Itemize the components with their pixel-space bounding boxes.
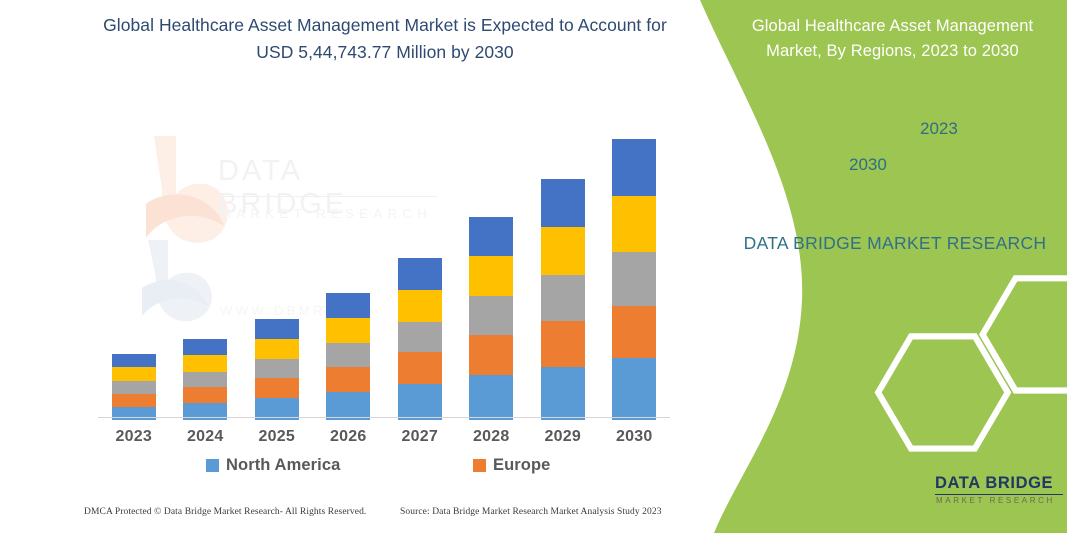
bar-2025[interactable] [255,319,299,420]
bar-segment-north-america[interactable] [541,367,585,420]
bar-2026[interactable] [326,293,370,420]
legend-swatch-icon [206,459,219,472]
bar-segment-middle-east-africa[interactable] [255,319,299,339]
legend-swatch-icon [473,459,486,472]
bar-segment-asia-pacific[interactable] [469,296,513,335]
bar-segment-north-america[interactable] [612,358,656,420]
bar-segment-europe[interactable] [112,394,156,407]
bar-segment-middle-east-africa[interactable] [469,217,513,256]
x-axis-label-2024: 2024 [170,428,242,446]
x-axis-label-2029: 2029 [527,428,599,446]
x-axis-label-2026: 2026 [313,428,385,446]
bar-2029[interactable] [541,179,585,420]
data-bridge-logo: DATA BRIDGE MARKET RESEARCH [875,467,1065,523]
bar-segment-south-america[interactable] [541,227,585,275]
bar-segment-north-america[interactable] [469,375,513,420]
x-axis-labels: 20232024202520262027202820292030 [98,428,670,452]
bar-segment-asia-pacific[interactable] [326,343,370,367]
bar-segment-south-america[interactable] [255,339,299,359]
right-green-panel: Global Healthcare Asset Management Marke… [680,0,1067,533]
bar-segment-europe[interactable] [469,335,513,375]
bar-segment-middle-east-africa[interactable] [183,339,227,355]
bar-segment-asia-pacific[interactable] [112,381,156,394]
bar-segment-asia-pacific[interactable] [541,275,585,321]
logo-divider [935,494,1063,495]
logo-subtitle: MARKET RESEARCH [936,496,1055,505]
bar-segment-south-america[interactable] [398,290,442,322]
page-title: Global Healthcare Asset Management Marke… [100,12,670,66]
legend-item-europe[interactable]: Europe [473,456,550,475]
hex-label-2030: 2030 [849,155,887,175]
bar-segment-middle-east-africa[interactable] [612,139,656,196]
x-axis-label-2030: 2030 [599,428,671,446]
bar-segment-middle-east-africa[interactable] [541,179,585,227]
stacked-bar-chart [98,120,670,420]
bar-segment-europe[interactable] [541,321,585,367]
bar-segment-south-america[interactable] [469,256,513,296]
chart-legend: North AmericaEurope [98,456,670,480]
bar-segment-south-america[interactable] [326,318,370,343]
panel-title: Global Healthcare Asset Management Marke… [725,14,1060,64]
bar-segment-europe[interactable] [326,367,370,392]
bar-segment-south-america[interactable] [612,196,656,252]
x-axis-label-2028: 2028 [456,428,528,446]
bar-segment-asia-pacific[interactable] [398,322,442,352]
bar-segment-europe[interactable] [183,387,227,403]
bar-2027[interactable] [398,258,442,420]
bar-segment-middle-east-africa[interactable] [112,354,156,367]
legend-item-north-america[interactable]: North America [206,456,340,475]
bar-2028[interactable] [469,217,513,420]
bar-segment-europe[interactable] [612,306,656,358]
bar-segment-north-america[interactable] [398,384,442,420]
bar-2030[interactable] [612,139,656,420]
panel-brand-text: DATA BRIDGE MARKET RESEARCH [740,228,1050,258]
infographic-root: Global Healthcare Asset Management Marke… [0,0,1067,533]
footer-copyright: DMCA Protected © Data Bridge Market Rese… [84,507,366,517]
logo-wordmark: DATA BRIDGE [935,474,1053,493]
bar-segment-europe[interactable] [398,352,442,384]
bar-segment-middle-east-africa[interactable] [326,293,370,318]
bar-segment-middle-east-africa[interactable] [398,258,442,290]
bar-2023[interactable] [112,354,156,420]
bar-2024[interactable] [183,339,227,420]
bar-segment-asia-pacific[interactable] [612,252,656,306]
x-axis-line [98,417,670,418]
bar-segment-south-america[interactable] [112,367,156,381]
footer-source: Source: Data Bridge Market Research Mark… [400,507,662,517]
hex-label-2023: 2023 [920,119,958,139]
legend-label: Europe [493,456,550,475]
bar-segment-asia-pacific[interactable] [183,372,227,387]
bar-segment-north-america[interactable] [326,392,370,420]
bar-segment-europe[interactable] [255,378,299,398]
bar-segment-south-america[interactable] [183,355,227,372]
bar-segment-asia-pacific[interactable] [255,359,299,378]
x-axis-label-2023: 2023 [98,428,170,446]
legend-label: North America [226,456,340,475]
x-axis-label-2025: 2025 [241,428,313,446]
bar-segment-north-america[interactable] [112,407,156,420]
x-axis-label-2027: 2027 [384,428,456,446]
hexagon-badges: 2030 2023 [822,95,1022,205]
